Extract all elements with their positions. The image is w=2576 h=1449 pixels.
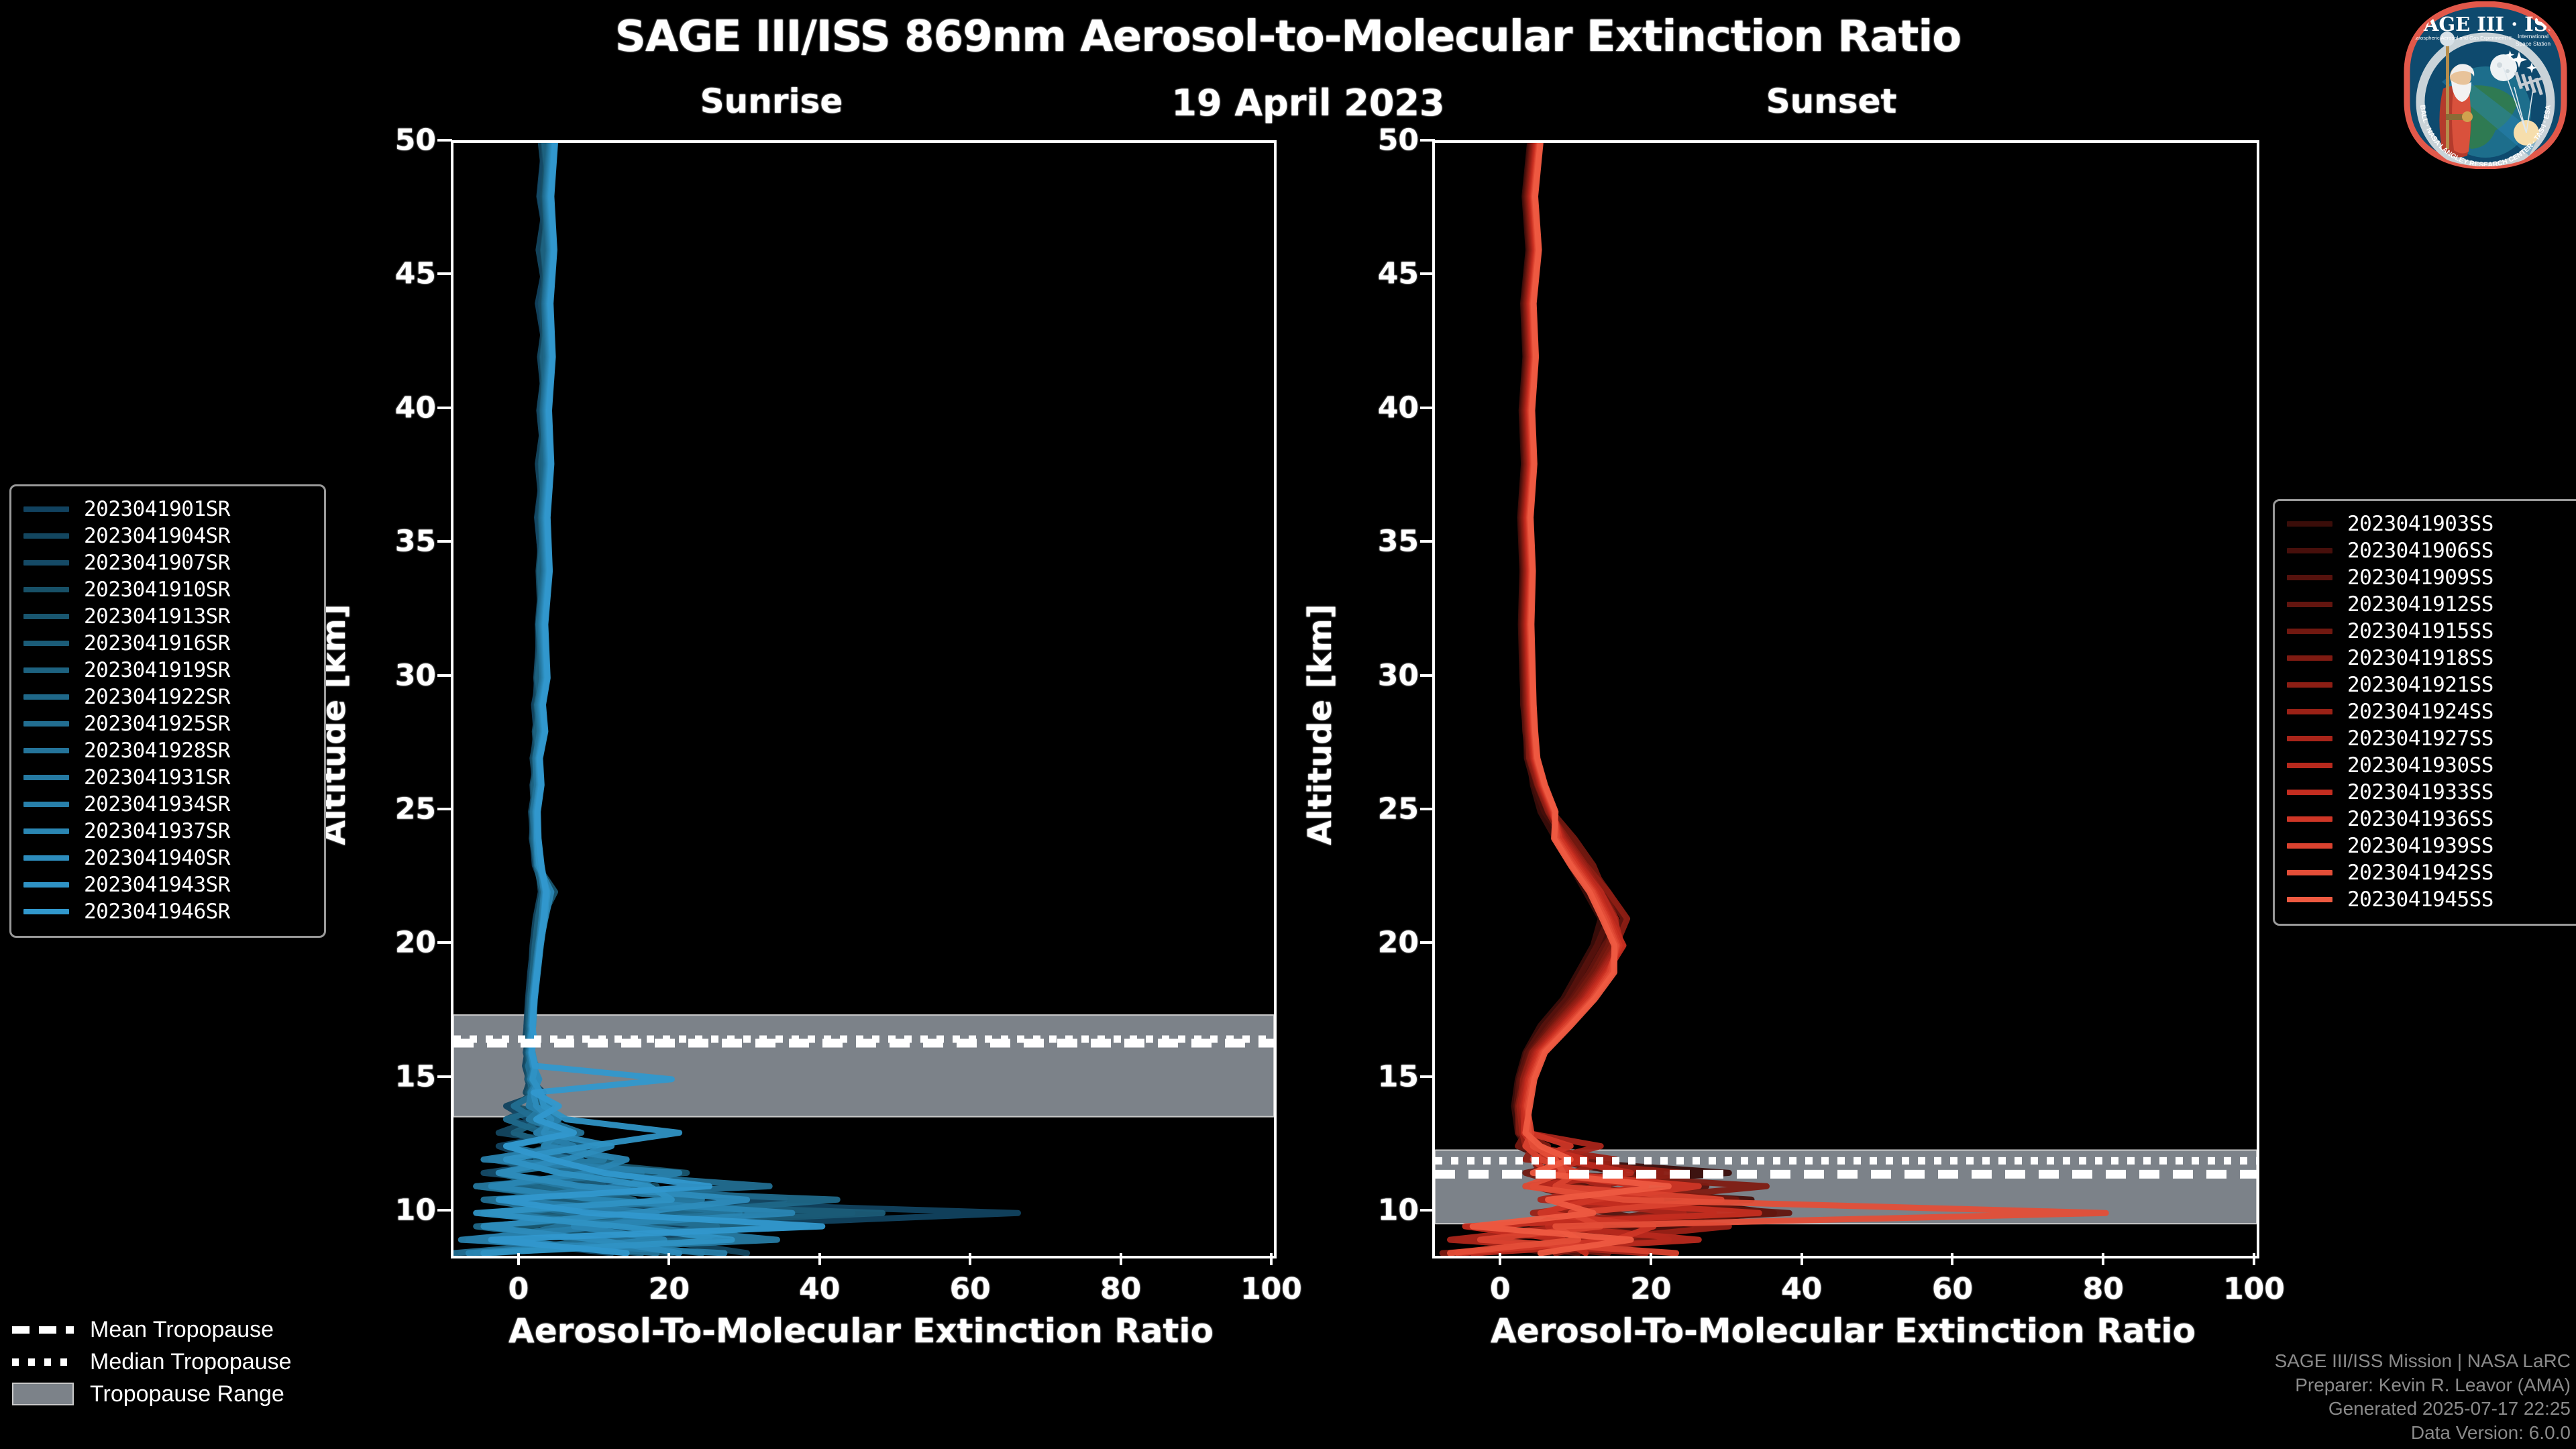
legend-item-label: 2023041910SR [84,578,230,602]
legend-item-label: 2023041906SS [2347,539,2493,563]
legend-item[interactable]: 2023041906SS [2287,537,2576,564]
legend-color-swatch [23,775,69,780]
legend-item-label: 2023041943SR [84,873,230,897]
legend-item-label: 2023041933SS [2347,780,2493,804]
y-tick-label: 15 [395,1059,436,1093]
legend-item[interactable]: 2023041937SR [23,818,312,845]
credits-block: SAGE III/ISS Mission | NASA LaRC Prepare… [2275,1349,2571,1445]
legend-color-swatch [2287,709,2332,714]
plot-sunrise-canvas [453,143,1274,1256]
legend-row-mean-tropopause: Mean Tropopause [12,1313,361,1346]
legend-color-swatch [23,855,69,861]
legend-item[interactable]: 2023041924SS [2287,698,2576,725]
legend-sunrise[interactable]: 2023041901SR2023041904SR2023041907SR2023… [9,484,326,938]
legend-item-label: 2023041940SR [84,846,230,870]
legend-color-swatch [23,748,69,753]
legend-color-swatch [2287,548,2332,553]
legend-item[interactable]: 2023041931SR [23,764,312,791]
median-tropopause-dot-icon [12,1346,76,1378]
legend-item-label: 2023041919SR [84,658,230,682]
legend-item[interactable]: 2023041913SR [23,603,312,630]
y-tick-label: 10 [1378,1193,1419,1228]
legend-color-swatch [23,533,69,539]
x-tick-label: 60 [1932,1272,1973,1306]
x-tick-mark [1499,1253,1501,1265]
x-tick-mark [1801,1253,1803,1265]
legend-item-label: 2023041939SS [2347,834,2493,858]
y-tick-mark [437,272,452,275]
legend-item[interactable]: 2023041945SS [2287,886,2576,913]
y-tick-mark [1420,407,1435,409]
x-tick-label: 40 [1781,1272,1822,1306]
legend-item-label: 2023041934SR [84,792,230,816]
legend-item-label: 2023041907SR [84,551,230,575]
plot-sunrise [451,140,1277,1258]
y-tick-label: 50 [1378,123,1419,158]
legend-item-label: 2023041927SS [2347,727,2493,751]
legend-color-swatch [2287,736,2332,741]
y-tick-mark [1420,272,1435,275]
x-tick-mark [1951,1253,1953,1265]
y-tick-mark [1420,139,1435,142]
legend-color-swatch [2287,816,2332,822]
plot-sunset [1432,140,2259,1258]
legend-item[interactable]: 2023041903SS [2287,511,2576,537]
x-tick-mark [1270,1253,1273,1265]
legend-item[interactable]: 2023041939SS [2287,833,2576,859]
x-tick-label: 80 [2083,1272,2124,1306]
legend-item[interactable]: 2023041940SR [23,845,312,871]
y-tick-label: 30 [1378,658,1419,692]
x-tick-label: 20 [1630,1272,1671,1306]
y-axis-sunrise: 101520253035404550 [362,140,436,1253]
legend-label-mean-tropopause: Mean Tropopause [90,1317,274,1343]
legend-item[interactable]: 2023041910SR [23,576,312,603]
y-tick-mark [1420,540,1435,543]
logo-subtitle-right-2: Space Station [2516,40,2551,47]
y-tick-mark [437,941,452,944]
y-tick-label: 10 [395,1193,436,1228]
y-tick-mark [437,1209,452,1212]
legend-item[interactable]: 2023041912SS [2287,591,2576,618]
y-tick-label: 25 [1378,792,1419,826]
sage-iii-iss-mission-patch-logo: SAGE III · ISS Stratospheric Aerosol and… [2402,1,2569,169]
y-tick-label: 40 [395,390,436,425]
x-tick-label: 100 [2223,1272,2285,1306]
x-tick-mark [667,1253,670,1265]
legend-item-label: 2023041909SS [2347,566,2493,590]
legend-item[interactable]: 2023041907SR [23,549,312,576]
legend-item-label: 2023041936SS [2347,807,2493,831]
y-tick-label: 40 [1378,390,1419,425]
x-tick-mark [517,1253,520,1265]
legend-color-swatch [23,560,69,566]
legend-item-label: 2023041904SR [84,524,230,548]
legend-color-swatch [23,721,69,727]
logo-subtitle-right-1: International [2518,33,2548,40]
y-tick-label: 25 [395,792,436,826]
y-tick-label: 45 [395,257,436,291]
x-tick-label: 60 [950,1272,991,1306]
legend-item[interactable]: 2023041943SR [23,871,312,898]
legend-item[interactable]: 2023041909SS [2287,564,2576,591]
x-tick-mark [1120,1253,1122,1265]
x-axis-label-sunset: Aerosol-To-Molecular Extinction Ratio [1432,1311,2254,1350]
credits-line-mission: SAGE III/ISS Mission | NASA LaRC [2275,1349,2571,1373]
x-tick-mark [2102,1253,2104,1265]
y-tick-label: 35 [1378,525,1419,559]
y-tick-mark [1420,674,1435,677]
legend-color-swatch [23,694,69,700]
x-tick-mark [818,1253,821,1265]
legend-color-swatch [2287,521,2332,527]
y-tick-mark [1420,941,1435,944]
legend-item[interactable]: 2023041915SS [2287,618,2576,645]
legend-item-label: 2023041922SR [84,685,230,709]
credits-line-generated: Generated 2025-07-17 22:25 [2275,1397,2571,1421]
legend-label-median-tropopause: Median Tropopause [90,1349,292,1375]
legend-item[interactable]: 2023041916SR [23,630,312,657]
x-tick-label: 0 [1490,1272,1511,1306]
y-tick-mark [1420,1209,1435,1212]
legend-sunset[interactable]: 2023041903SS2023041906SS2023041909SS2023… [2273,499,2576,926]
y-tick-mark [437,139,452,142]
legend-color-swatch [23,909,69,914]
legend-item[interactable]: 2023041919SR [23,657,312,684]
legend-item-label: 2023041924SS [2347,700,2493,724]
legend-color-swatch [23,614,69,619]
legend-color-swatch [2287,575,2332,580]
legend-item-label: 2023041937SR [84,819,230,843]
legend-item[interactable]: 2023041904SR [23,523,312,549]
legend-item-label: 2023041945SS [2347,888,2493,912]
legend-color-swatch [2287,682,2332,688]
legend-item-label: 2023041942SS [2347,861,2493,885]
legend-item-label: 2023041928SR [84,739,230,763]
y-tick-label: 35 [395,525,436,559]
legend-label-tropopause-range: Tropopause Range [90,1381,284,1407]
legend-item[interactable]: 2023041936SS [2287,806,2576,833]
legend-item-label: 2023041918SS [2347,646,2493,670]
y-tick-mark [437,674,452,677]
legend-color-swatch [2287,763,2332,768]
legend-item-label: 2023041901SR [84,497,230,521]
logo-subtitle-left: Stratospheric Aerosol and Gas Experiment… [2410,35,2512,41]
legend-color-swatch [2287,790,2332,795]
legend-color-swatch [2287,602,2332,607]
y-tick-mark [437,407,452,409]
y-tick-mark [437,540,452,543]
legend-item[interactable]: 2023041933SS [2287,779,2576,806]
legend-color-swatch [23,587,69,592]
legend-item-label: 2023041930SS [2347,753,2493,777]
legend-item-label: 2023041913SR [84,604,230,629]
y-tick-label: 15 [1378,1059,1419,1093]
y-tick-label: 30 [395,658,436,692]
legend-item-label: 2023041946SR [84,900,230,924]
legend-item-label: 2023041912SS [2347,592,2493,616]
x-axis-label-sunrise: Aerosol-To-Molecular Extinction Ratio [451,1311,1271,1350]
legend-item[interactable]: 2023041942SS [2287,859,2576,886]
subtitle-sunrise: Sunrise [671,82,872,121]
legend-item[interactable]: 2023041901SR [23,496,312,523]
tropopause-range-swatch-icon [12,1378,76,1410]
legend-color-swatch [2287,629,2332,634]
legend-item-label: 2023041915SS [2347,619,2493,643]
x-tick-mark [969,1253,971,1265]
y-tick-mark [437,808,452,810]
x-tick-label: 80 [1100,1272,1141,1306]
y-tick-mark [437,1075,452,1078]
legend-tropopause: Mean Tropopause Median Tropopause Tropop… [12,1313,361,1410]
legend-item[interactable]: 2023041930SS [2287,752,2576,779]
legend-color-swatch [2287,897,2332,902]
credits-line-data-version: Data Version: 6.0.0 [2275,1421,2571,1445]
y-tick-mark [1420,1075,1435,1078]
x-tick-label: 0 [508,1272,529,1306]
y-tick-label: 50 [395,123,436,158]
legend-row-tropopause-range: Tropopause Range [12,1378,361,1410]
page-title: SAGE III/ISS 869nm Aerosol-to-Molecular … [0,12,2576,62]
mean-tropopause-dash-icon [12,1313,76,1346]
x-tick-label: 100 [1240,1272,1302,1306]
y-tick-mark [1420,808,1435,810]
subtitle-sunset: Sunset [1690,82,1972,121]
legend-item[interactable]: 2023041921SS [2287,672,2576,698]
plot-sunset-canvas [1435,143,2257,1256]
legend-item[interactable]: 2023041928SR [23,737,312,764]
legend-item[interactable]: 2023041927SS [2287,725,2576,752]
legend-item-label: 2023041931SR [84,765,230,790]
legend-row-median-tropopause: Median Tropopause [12,1346,361,1378]
x-tick-mark [2253,1253,2255,1265]
legend-color-swatch [2287,655,2332,661]
legend-color-swatch [2287,843,2332,849]
y-axis-sunset: 101520253035404550 [1345,140,1419,1253]
x-tick-label: 20 [649,1272,690,1306]
legend-color-swatch [23,667,69,673]
y-tick-label: 45 [1378,257,1419,291]
legend-item[interactable]: 2023041918SS [2287,645,2576,672]
y-tick-label: 20 [395,926,436,960]
subtitle-date: 19 April 2023 [1100,82,1516,124]
legend-color-swatch [2287,870,2332,875]
x-tick-label: 40 [799,1272,840,1306]
x-tick-mark [1650,1253,1652,1265]
legend-item[interactable]: 2023041922SR [23,684,312,710]
legend-item[interactable]: 2023041925SR [23,710,312,737]
legend-color-swatch [23,882,69,888]
legend-item-label: 2023041925SR [84,712,230,736]
legend-item-label: 2023041921SS [2347,673,2493,697]
legend-color-swatch [23,802,69,807]
legend-color-swatch [23,828,69,834]
legend-color-swatch [23,641,69,646]
legend-item[interactable]: 2023041946SR [23,898,312,925]
credits-line-preparer: Preparer: Kevin R. Leavor (AMA) [2275,1373,2571,1397]
legend-item-label: 2023041916SR [84,631,230,655]
y-axis-label-sunset: Altitude [km] [1301,604,1339,845]
y-tick-label: 20 [1378,926,1419,960]
legend-item-label: 2023041903SS [2347,512,2493,536]
legend-color-swatch [23,506,69,512]
legend-item[interactable]: 2023041934SR [23,791,312,818]
